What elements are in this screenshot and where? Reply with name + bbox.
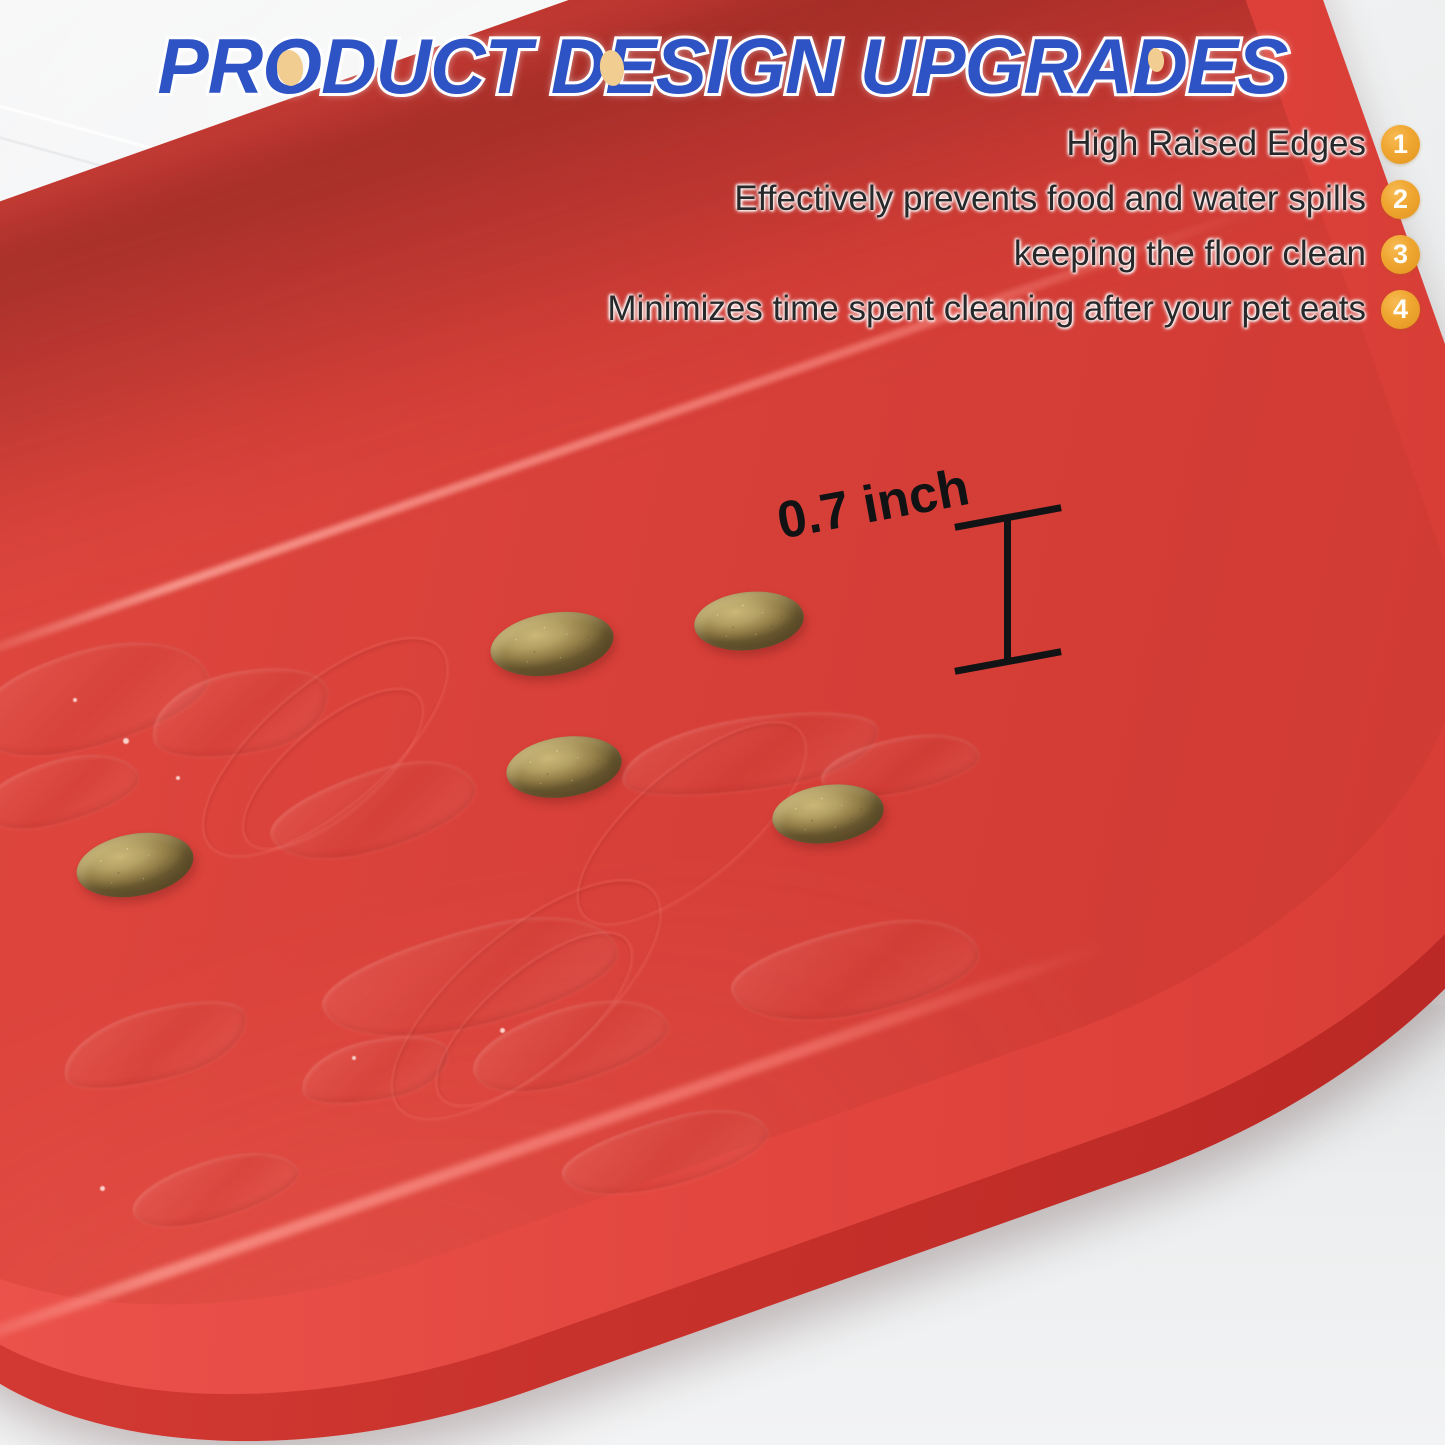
status-badge: 4	[1381, 290, 1420, 329]
droplet-glint	[73, 698, 77, 702]
droplet-glint	[176, 776, 180, 780]
list-item: keeping the floor clean 3	[540, 228, 1420, 280]
feature-text: keeping the floor clean	[1014, 234, 1366, 274]
dimension-line-icon	[1004, 516, 1011, 664]
droplet-glint	[100, 1186, 105, 1191]
product-infographic: 0.7 inch PRODUCT DESIGN UPGRADES High Ra…	[0, 0, 1445, 1445]
droplet-glint	[352, 1056, 356, 1060]
feeding-mat-tray	[0, 150, 1445, 1445]
list-item: Minimizes time spent cleaning after your…	[540, 283, 1420, 335]
feature-text: Minimizes time spent cleaning after your…	[607, 289, 1366, 329]
list-item: High Raised Edges 1	[540, 118, 1420, 170]
page-title: PRODUCT DESIGN UPGRADES	[11, 18, 1434, 114]
status-badge: 3	[1381, 235, 1420, 274]
status-badge: 2	[1381, 180, 1420, 219]
status-badge: 1	[1381, 125, 1420, 164]
list-item: Effectively prevents food and water spil…	[540, 173, 1420, 225]
droplet-glint	[123, 738, 129, 744]
feature-text: Effectively prevents food and water spil…	[734, 179, 1366, 219]
feature-list: High Raised Edges 1 Effectively prevents…	[540, 118, 1420, 338]
droplet-glint	[500, 1028, 505, 1033]
feature-text: High Raised Edges	[1066, 124, 1366, 164]
